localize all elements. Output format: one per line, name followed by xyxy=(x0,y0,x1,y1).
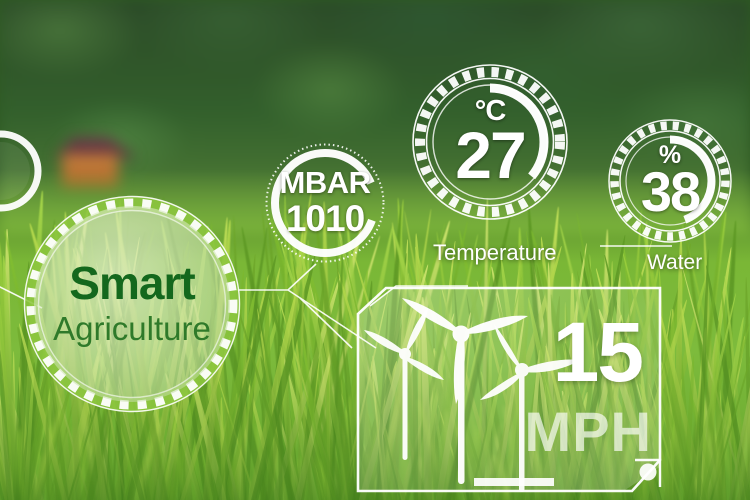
hub-title-line2: Agriculture xyxy=(53,310,211,348)
temperature-gauge[interactable]: °C 27 xyxy=(410,62,570,222)
smart-agriculture-hub[interactable]: Smart Agriculture xyxy=(22,194,242,414)
water-gauge-face: % 38 xyxy=(606,117,734,245)
wind-speed-panel[interactable]: 15 MPH xyxy=(352,282,666,497)
wind-speed-unit: MPH xyxy=(525,404,652,460)
temperature-gauge-face: °C 27 xyxy=(410,62,570,222)
hub-title-line1: Smart xyxy=(69,260,194,306)
pressure-value: 1010 xyxy=(286,200,364,239)
smart-agriculture-screenshot: Smart Agriculture MBAR 1010 °C 27 Temper… xyxy=(0,0,750,500)
hub-text: Smart Agriculture xyxy=(22,194,242,414)
water-caption: Water xyxy=(647,251,702,275)
temperature-caption: Temperature xyxy=(433,240,557,266)
water-value: 38 xyxy=(641,165,699,219)
pressure-gauge[interactable]: MBAR 1010 xyxy=(263,141,387,265)
pressure-gauge-face: MBAR 1010 xyxy=(263,141,387,265)
temperature-value: 27 xyxy=(455,124,524,187)
water-gauge[interactable]: % 38 xyxy=(606,117,734,245)
pressure-unit-label: MBAR xyxy=(280,167,371,200)
wind-speed-value: 15 xyxy=(553,310,642,394)
